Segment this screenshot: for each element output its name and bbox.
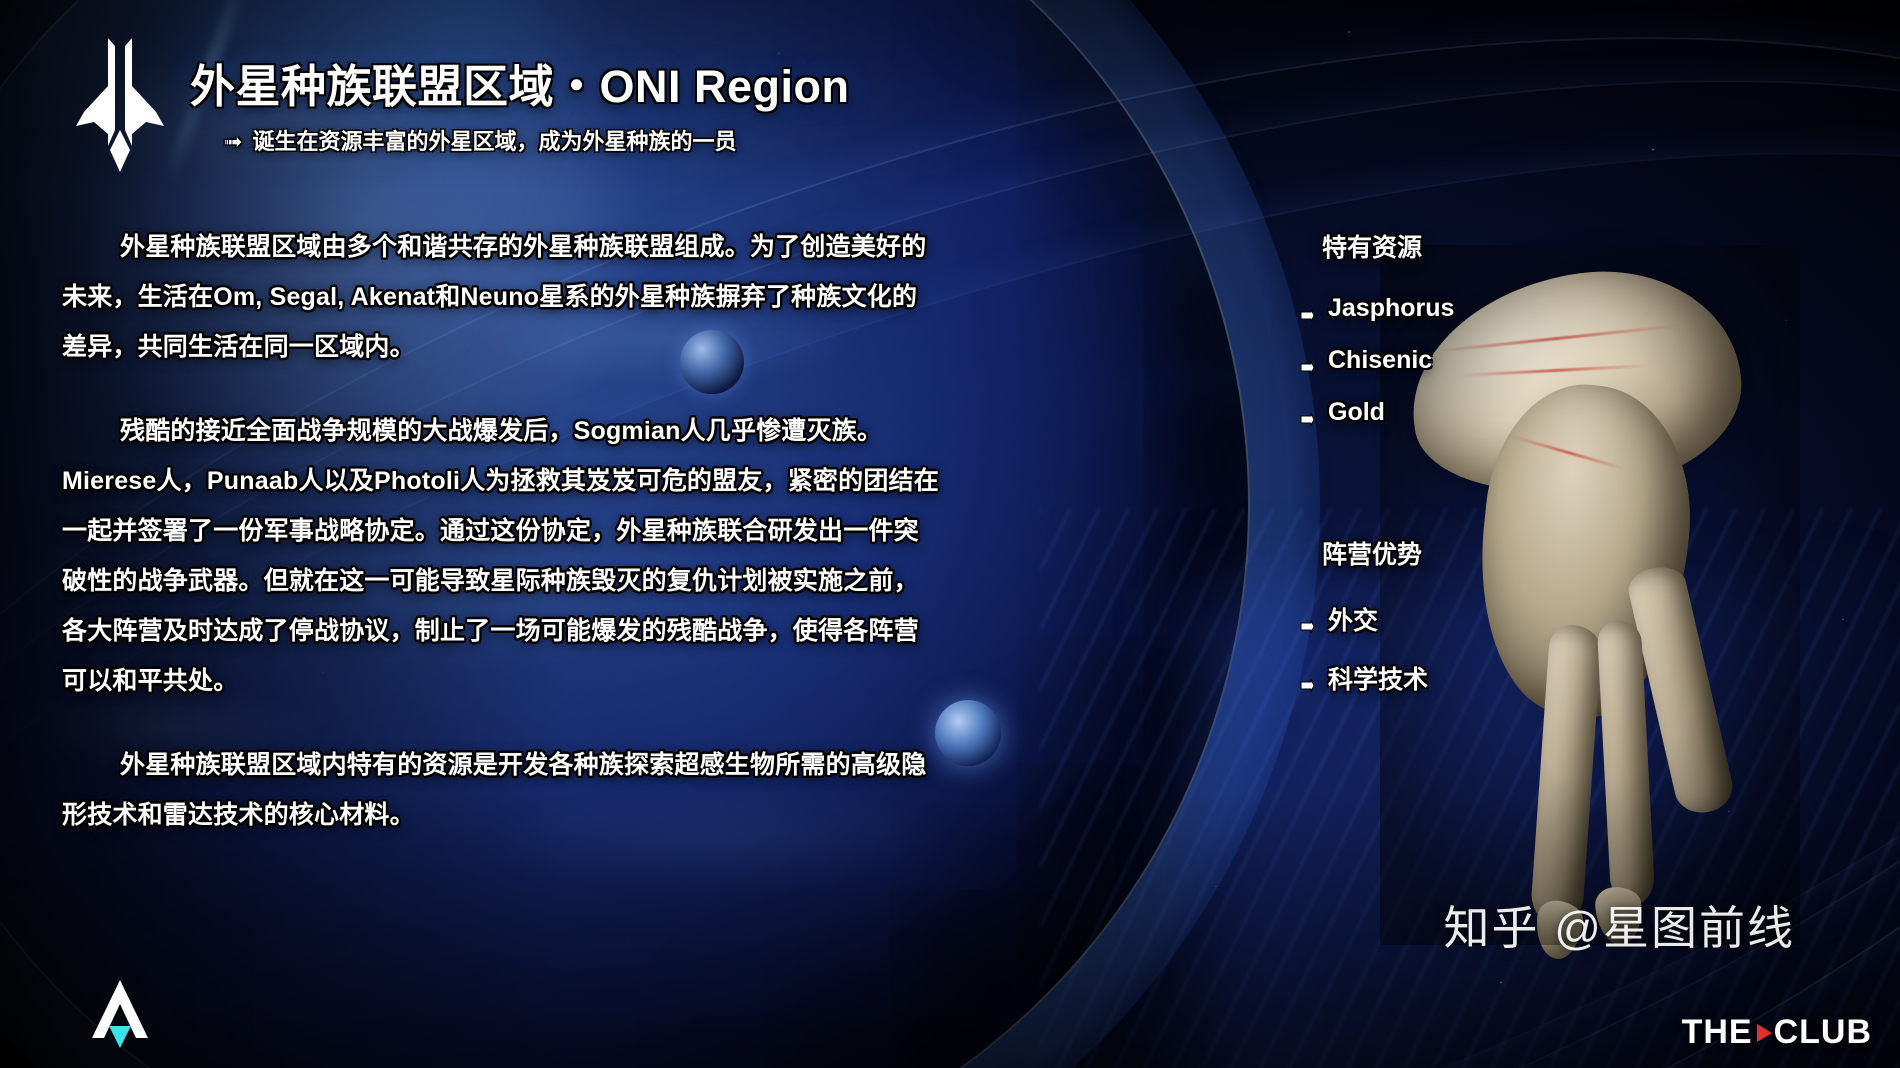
triangle-accent-icon bbox=[1757, 1024, 1772, 1042]
bullet-arrow-icon bbox=[1300, 612, 1315, 627]
club-logo-club: CLUB bbox=[1774, 1013, 1872, 1052]
lore-text-block: 外星种族联盟区域由多个和谐共存的外星种族联盟组成。为了创造美好的未来，生活在Om… bbox=[62, 222, 942, 840]
resource-item-jasphorus: Jasphorus bbox=[1300, 294, 1600, 323]
header-text-group: 外星种族联盟区域・ONI Region ➟诞生在资源丰富的外星区域，成为外星种族… bbox=[190, 34, 850, 156]
resource-item-gold: Gold bbox=[1300, 398, 1600, 427]
lore-paragraph: 外星种族联盟区域由多个和谐共存的外星种族联盟组成。为了创造美好的未来，生活在Om… bbox=[62, 222, 942, 372]
bullet-arrow-icon bbox=[1300, 301, 1315, 316]
alliance-emblem-icon bbox=[74, 34, 166, 174]
resource-item-chisenic: Chisenic bbox=[1300, 346, 1600, 375]
resource-label: Chisenic bbox=[1328, 346, 1432, 375]
page-title: 外星种族联盟区域・ONI Region bbox=[190, 62, 850, 112]
bullet-arrow-icon bbox=[1300, 671, 1315, 686]
the-club-logo: THE CLUB bbox=[1682, 1013, 1872, 1052]
advantage-label: 外交 bbox=[1328, 601, 1378, 637]
bullet-arrow-icon bbox=[1300, 353, 1315, 368]
advantage-item-diplomacy: 外交 bbox=[1300, 601, 1600, 637]
resource-label: Gold bbox=[1328, 398, 1385, 427]
lore-paragraph: 残酷的接近全面战争规模的大战爆发后，Sogmian人几乎惨遭灭族。Mierese… bbox=[62, 406, 942, 706]
lore-paragraph: 外星种族联盟区域内特有的资源是开发各种族探索超感生物所需的高级隐形技术和雷达技术… bbox=[62, 740, 942, 840]
bullet-arrow-icon bbox=[1300, 405, 1315, 420]
club-logo-the: THE bbox=[1682, 1013, 1753, 1052]
poster-canvas: 外星种族联盟区域・ONI Region ➟诞生在资源丰富的外星区域，成为外星种族… bbox=[0, 0, 1900, 1068]
triangle-brand-icon bbox=[88, 976, 152, 1054]
zhihu-watermark: 知乎 @星图前线 bbox=[1444, 892, 1795, 958]
faction-advantages-heading: 阵营优势 bbox=[1322, 535, 1600, 571]
advantage-item-science: 科学技术 bbox=[1300, 660, 1600, 696]
unique-resources-block: 特有资源 Jasphorus Chisenic bbox=[1300, 228, 1600, 427]
resource-label: Jasphorus bbox=[1328, 294, 1454, 323]
page-subtitle: ➟诞生在资源丰富的外星区域，成为外星种族的一员 bbox=[224, 124, 850, 156]
faction-info-panel: 特有资源 Jasphorus Chisenic bbox=[1300, 228, 1600, 719]
arrow-icon: ➟ bbox=[224, 129, 242, 155]
unique-resources-heading: 特有资源 bbox=[1322, 228, 1600, 264]
advantage-label: 科学技术 bbox=[1328, 660, 1428, 696]
page-subtitle-text: 诞生在资源丰富的外星区域，成为外星种族的一员 bbox=[252, 129, 736, 154]
poster-header: 外星种族联盟区域・ONI Region ➟诞生在资源丰富的外星区域，成为外星种族… bbox=[74, 34, 850, 174]
faction-advantages-block: 阵营优势 外交 科学技术 bbox=[1300, 535, 1600, 696]
